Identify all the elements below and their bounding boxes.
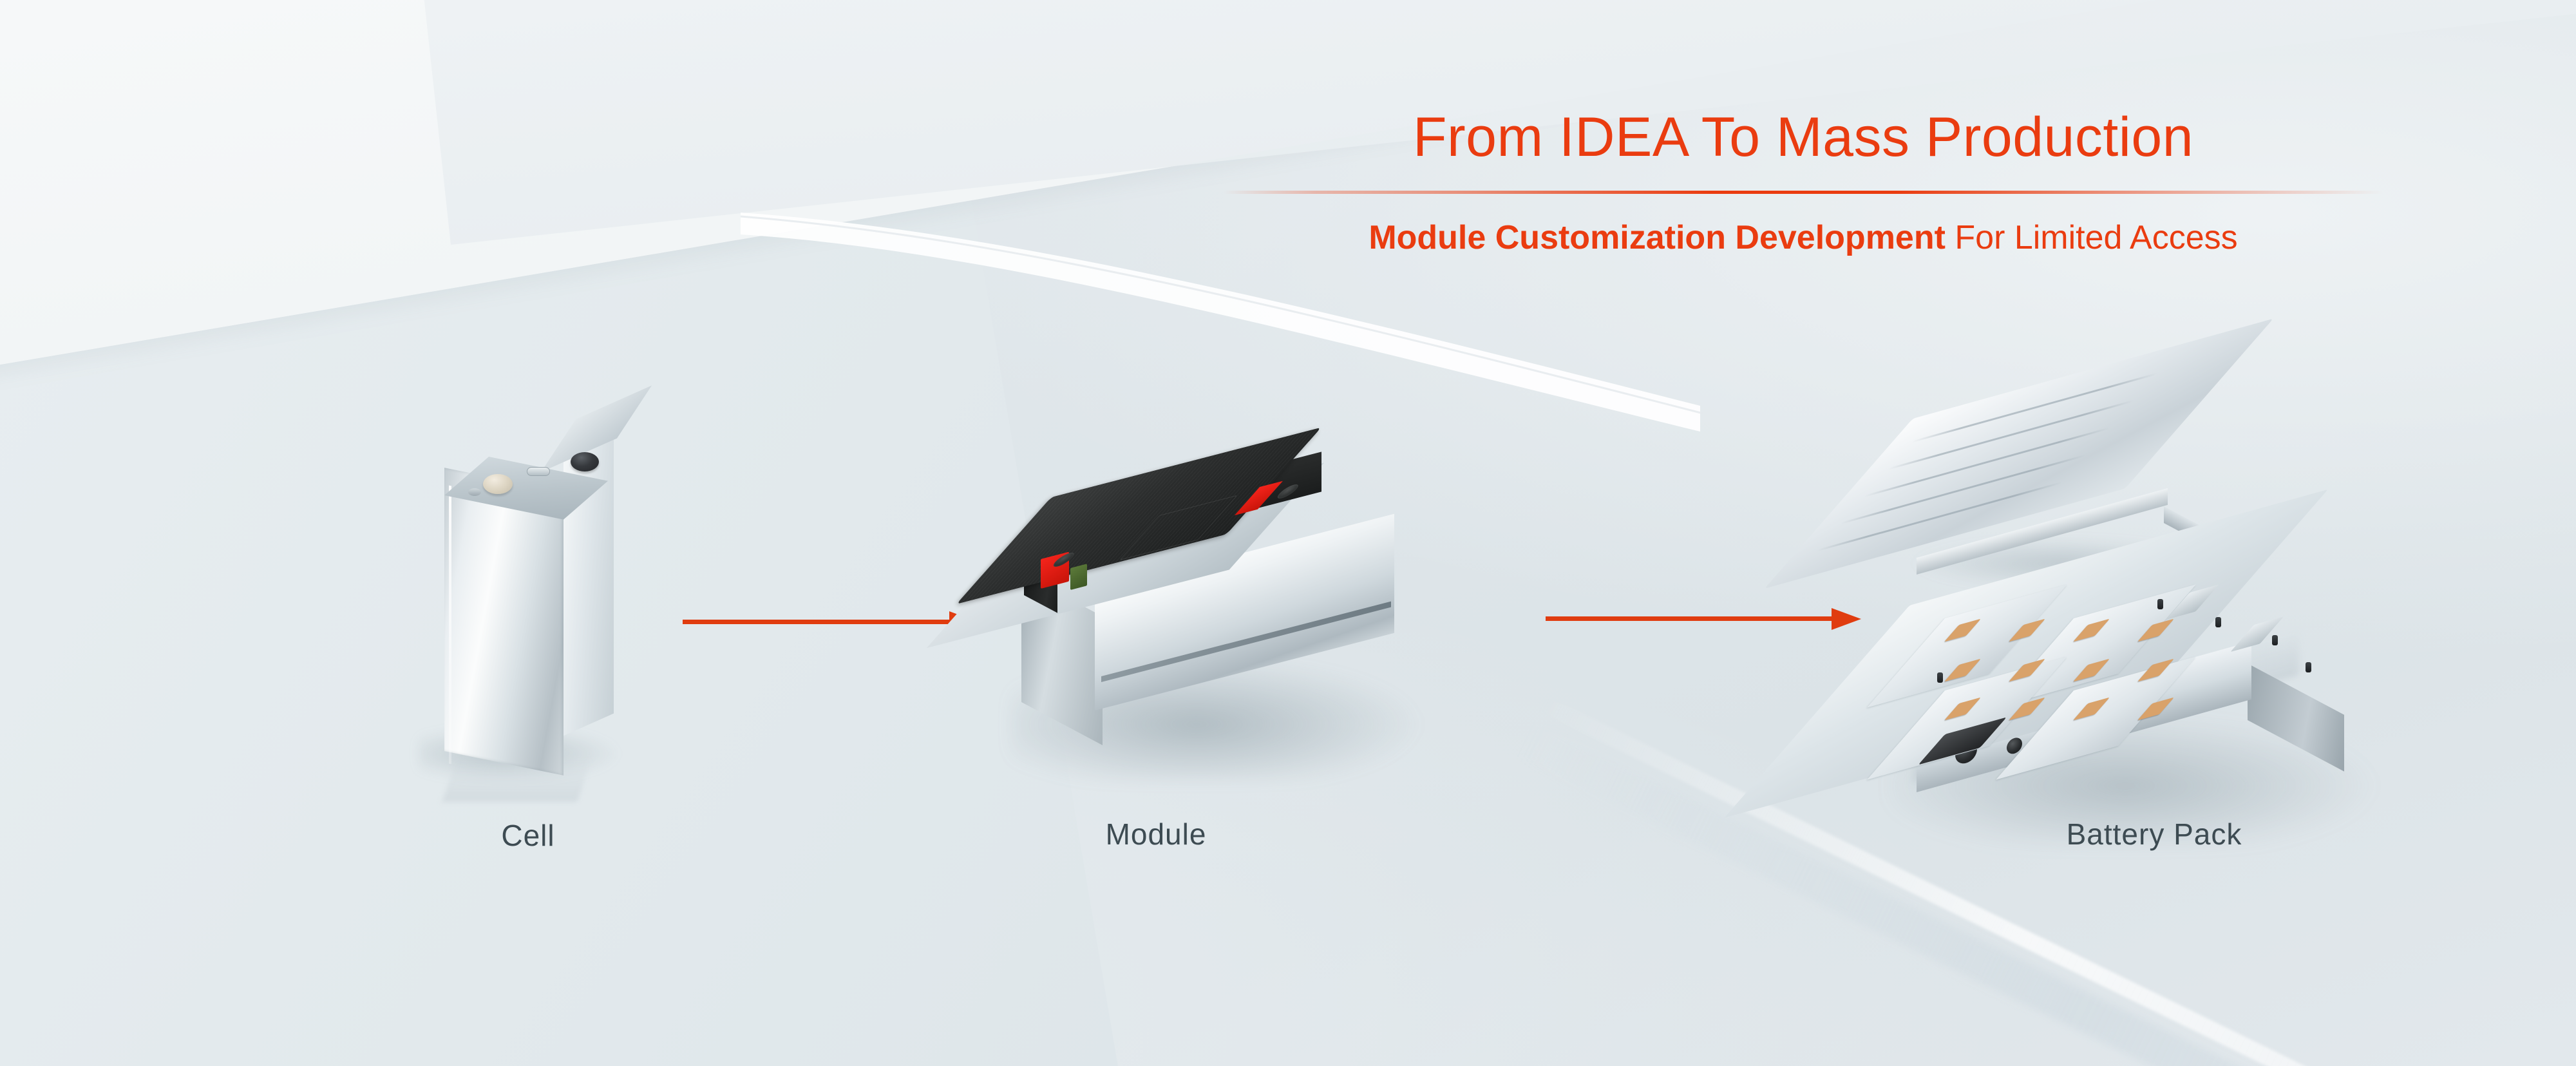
- stage-label-module: Module: [1030, 817, 1282, 852]
- pack-bolt-icon: [2272, 635, 2278, 645]
- negative-terminal-icon: [571, 452, 599, 471]
- stage-battery-pack: [1855, 412, 2473, 812]
- lid-rib: [1911, 372, 2157, 443]
- positive-terminal-icon: [483, 474, 513, 494]
- pack-bolt-icon: [2157, 599, 2163, 609]
- page-subtitle: Module Customization Development For Lim…: [1224, 221, 2383, 254]
- hero-banner: From IDEA To Mass Production Module Cust…: [0, 0, 2576, 1066]
- stage-cell: [419, 432, 638, 792]
- module-negative-tab: [1070, 564, 1087, 590]
- arrow-module-to-pack: [1546, 605, 1861, 631]
- stage-module: [1005, 464, 1481, 786]
- cell-locator-hole-icon: [468, 488, 481, 496]
- safety-vent-icon: [527, 467, 550, 476]
- subtitle-strong: Module Customization Development: [1368, 219, 1946, 256]
- stage-label-cell: Cell: [422, 818, 634, 853]
- subtitle-light: For Limited Access: [1946, 219, 2238, 256]
- stage-label-battery-pack: Battery Pack: [1990, 817, 2318, 852]
- cell-edge-highlight: [449, 486, 451, 765]
- arrow-shaft: [1546, 616, 1832, 621]
- pack-bolt-icon: [1937, 672, 1943, 683]
- lid-rib: [1888, 400, 2134, 470]
- arrow-cell-to-module: [683, 609, 979, 634]
- arrow-shaft: [683, 620, 949, 624]
- lid-rib: [1840, 454, 2087, 524]
- page-title: From IDEA To Mass Production: [1224, 109, 2383, 165]
- title-divider: [1224, 191, 2383, 194]
- pack-bolt-icon: [2215, 617, 2221, 627]
- pack-bolt-icon: [2306, 662, 2311, 672]
- header-block: From IDEA To Mass Production Module Cust…: [1224, 109, 2383, 254]
- lid-rib: [1864, 427, 2110, 497]
